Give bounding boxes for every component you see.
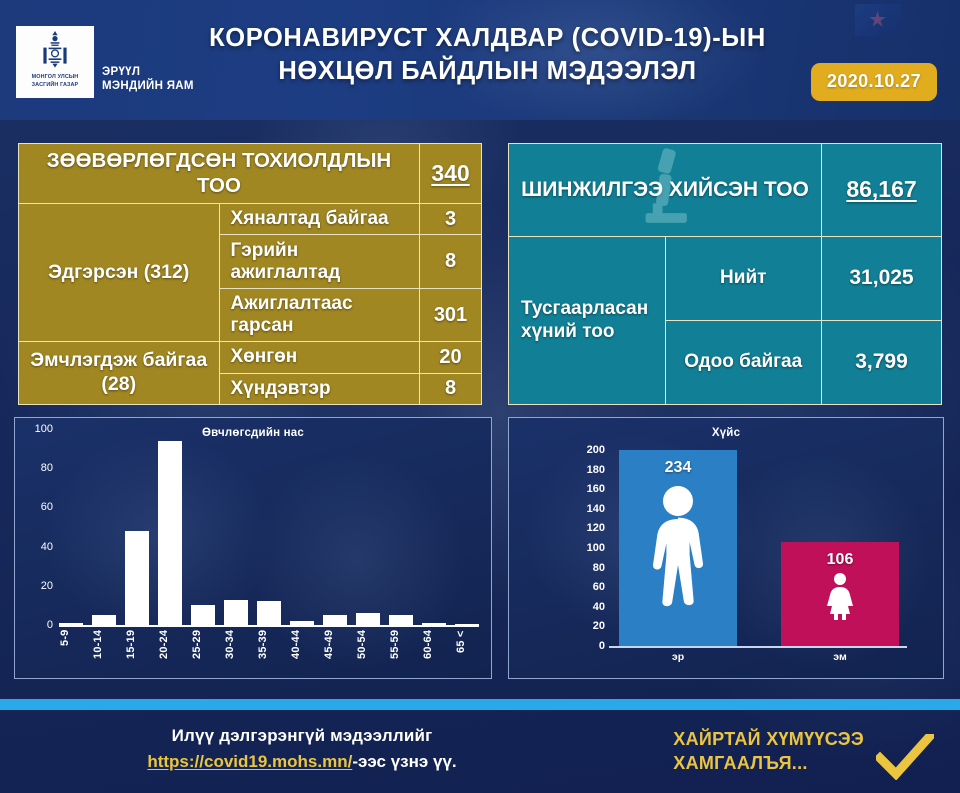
cases-summary-table: ЗӨӨВӨРЛӨГДСӨН ТОХИОЛДЛЫН ТОО 340 Эдгэрсэ… bbox=[18, 143, 482, 405]
footer-line1: Илүү дэлгэрэнгүй мэдээллийг bbox=[42, 726, 562, 746]
covid-website-link[interactable]: https://covid19.mohs.mn/ bbox=[147, 752, 352, 771]
age-y-tick: 100 bbox=[21, 423, 53, 435]
recovered-group-label: Эдгэрсэн (312) bbox=[19, 204, 220, 342]
age-bar bbox=[389, 615, 413, 625]
female-value-label: 106 bbox=[827, 551, 854, 569]
age-x-tick: 40-44 bbox=[290, 630, 314, 680]
tests-done-label: ШИНЖИЛГЭЭ ХИЙСЭН ТОО bbox=[509, 144, 822, 237]
age-x-tick: 30-34 bbox=[224, 630, 248, 680]
logo-text: МОНГОЛ УЛСЫН ЗАСГИЙН ГАЗАР bbox=[32, 73, 79, 89]
table-row: Эмчлэгдэж байгаа (28) Хөнгөн 20 bbox=[19, 342, 482, 373]
gender-y-tick: 80 bbox=[571, 562, 605, 574]
age-bar bbox=[356, 613, 380, 625]
gender-y-tick: 120 bbox=[571, 522, 605, 534]
age-y-tick: 60 bbox=[21, 501, 53, 513]
gender-y-tick: 200 bbox=[571, 444, 605, 456]
gender-y-tick: 60 bbox=[571, 581, 605, 593]
slogan-line2: ХАМГААЛЪЯ... bbox=[673, 751, 864, 775]
gender-y-tick: 0 bbox=[571, 640, 605, 652]
age-bar bbox=[92, 615, 116, 625]
gender-y-tick: 180 bbox=[571, 464, 605, 476]
age-bar bbox=[224, 600, 248, 625]
age-chart-y-axis: 020406080100 bbox=[21, 429, 53, 625]
gender-y-tick: 160 bbox=[571, 483, 605, 495]
imported-cases-label: ЗӨӨВӨРЛӨГДСӨН ТОХИОЛДЛЫН ТОО bbox=[19, 144, 420, 204]
age-x-tick: 45-49 bbox=[323, 630, 347, 680]
age-x-tick: 50-54 bbox=[356, 630, 380, 680]
gender-y-tick: 100 bbox=[571, 542, 605, 554]
gender-x-label-female: эм bbox=[781, 651, 899, 663]
age-x-tick: 15-19 bbox=[125, 630, 149, 680]
age-bar bbox=[257, 601, 281, 625]
age-chart-bars bbox=[59, 429, 479, 625]
isolated-group-label: Тусгаарласан хүний тоо bbox=[509, 236, 666, 404]
government-logo: МОНГОЛ УЛСЫН ЗАСГИЙН ГАЗАР bbox=[16, 26, 94, 98]
page-title: КОРОНАВИРУСТ ХАЛДВАР (COVID-19)-ЫН НӨХЦӨ… bbox=[175, 22, 800, 87]
age-y-tick: 20 bbox=[21, 580, 53, 592]
table-row-header: ЗӨӨВӨРЛӨГДСӨН ТОХИОЛДЛЫН ТОО 340 bbox=[19, 144, 482, 204]
tests-done-text: ШИНЖИЛГЭЭ ХИЙСЭН ТОО bbox=[521, 178, 809, 201]
flag-decoration-icon bbox=[855, 4, 901, 36]
tests-summary-table: ШИНЖИЛГЭЭ ХИЙСЭН ТОО 86,167 Тусгаарласан… bbox=[508, 143, 942, 405]
male-figure-icon bbox=[641, 483, 715, 607]
age-x-tick: 65 < bbox=[455, 630, 479, 680]
checkmark-icon bbox=[876, 734, 934, 780]
gender-y-tick: 20 bbox=[571, 620, 605, 632]
age-bar bbox=[125, 531, 149, 625]
gender-y-tick: 140 bbox=[571, 503, 605, 515]
male-value-label: 234 bbox=[665, 459, 692, 477]
age-x-tick: 35-39 bbox=[257, 630, 281, 680]
row-label: Одоо байгаа bbox=[665, 320, 822, 404]
footer-slogan: ХАЙРТАЙ ХҮМҮҮСЭЭ ХАМГААЛЪЯ... bbox=[673, 727, 864, 776]
gender-chart-x-axis: эр эм bbox=[613, 651, 903, 671]
footer-url-suffix: -ээс үзнэ үү. bbox=[352, 752, 456, 771]
treated-group-label: Эмчлэгдэж байгаа (28) bbox=[19, 342, 220, 405]
row-label: Нийт bbox=[665, 236, 822, 320]
age-x-tick: 5-9 bbox=[59, 630, 83, 680]
age-x-tick: 20-24 bbox=[158, 630, 182, 680]
row-value: 3,799 bbox=[822, 320, 942, 404]
gender-chart-plot: 234 106 bbox=[613, 450, 903, 646]
gender-bar-female: 106 bbox=[781, 542, 899, 646]
row-label: Хяналтад байгаа bbox=[219, 204, 420, 235]
row-label: Хөнгөн bbox=[219, 342, 420, 373]
gender-bar-male: 234 bbox=[619, 450, 737, 646]
slogan-line1: ХАЙРТАЙ ХҮМҮҮСЭЭ bbox=[673, 727, 864, 751]
gender-chart-title: Хүйс bbox=[509, 427, 943, 439]
gender-y-tick: 40 bbox=[571, 601, 605, 613]
table-row: Эдгэрсэн (312) Хяналтад байгаа 3 bbox=[19, 204, 482, 235]
row-value: 301 bbox=[420, 288, 482, 341]
age-y-tick: 80 bbox=[21, 462, 53, 474]
soyombo-icon bbox=[40, 30, 70, 72]
age-distribution-chart: Өвчлөгсдийн нас 020406080100 5-910-1415-… bbox=[14, 417, 492, 679]
row-value: 8 bbox=[420, 235, 482, 288]
tests-done-value: 86,167 bbox=[822, 144, 942, 237]
gender-chart-baseline bbox=[609, 646, 907, 648]
row-value: 3 bbox=[420, 204, 482, 235]
age-chart-x-axis: 5-910-1415-1920-2425-2930-3435-3940-4445… bbox=[59, 630, 479, 680]
female-figure-icon bbox=[820, 572, 860, 620]
age-y-tick: 0 bbox=[21, 619, 53, 631]
footer-info: Илүү дэлгэрэнгүй мэдээллийг https://covi… bbox=[42, 726, 562, 772]
age-chart-baseline bbox=[59, 625, 479, 627]
table-row-header: ШИНЖИЛГЭЭ ХИЙСЭН ТОО 86,167 bbox=[509, 144, 942, 237]
gender-x-label-male: эр bbox=[619, 651, 737, 663]
row-value: 20 bbox=[420, 342, 482, 373]
header: МОНГОЛ УЛСЫН ЗАСГИЙН ГАЗАР ЭРҮҮЛ МЭНДИЙН… bbox=[0, 0, 960, 120]
row-label: Хүндэвтэр bbox=[219, 373, 420, 404]
age-x-tick: 10-14 bbox=[92, 630, 116, 680]
row-value: 31,025 bbox=[822, 236, 942, 320]
gender-chart-y-axis: 020406080100120140160180200 bbox=[571, 450, 605, 646]
date-badge: 2020.10.27 bbox=[811, 63, 937, 101]
imported-cases-value: 340 bbox=[420, 144, 482, 204]
row-value: 8 bbox=[420, 373, 482, 404]
age-x-tick: 55-59 bbox=[389, 630, 413, 680]
gender-distribution-chart: Хүйс 020406080100120140160180200 234 106… bbox=[508, 417, 944, 679]
row-label: Ажиглалтаас гарсан bbox=[219, 288, 420, 341]
footer: Илүү дэлгэрэнгүй мэдээллийг https://covi… bbox=[0, 710, 960, 793]
age-bar bbox=[191, 605, 215, 625]
row-label: Гэрийн ажиглалтад bbox=[219, 235, 420, 288]
age-chart-plot bbox=[59, 429, 479, 625]
age-x-tick: 60-64 bbox=[422, 630, 446, 680]
age-bar bbox=[323, 615, 347, 625]
table-row: Тусгаарласан хүний тоо Нийт 31,025 bbox=[509, 236, 942, 320]
footer-divider bbox=[0, 699, 960, 710]
age-x-tick: 25-29 bbox=[191, 630, 215, 680]
footer-line2: https://covid19.mohs.mn/-ээс үзнэ үү. bbox=[42, 752, 562, 772]
age-y-tick: 40 bbox=[21, 541, 53, 553]
age-bar bbox=[158, 441, 182, 625]
